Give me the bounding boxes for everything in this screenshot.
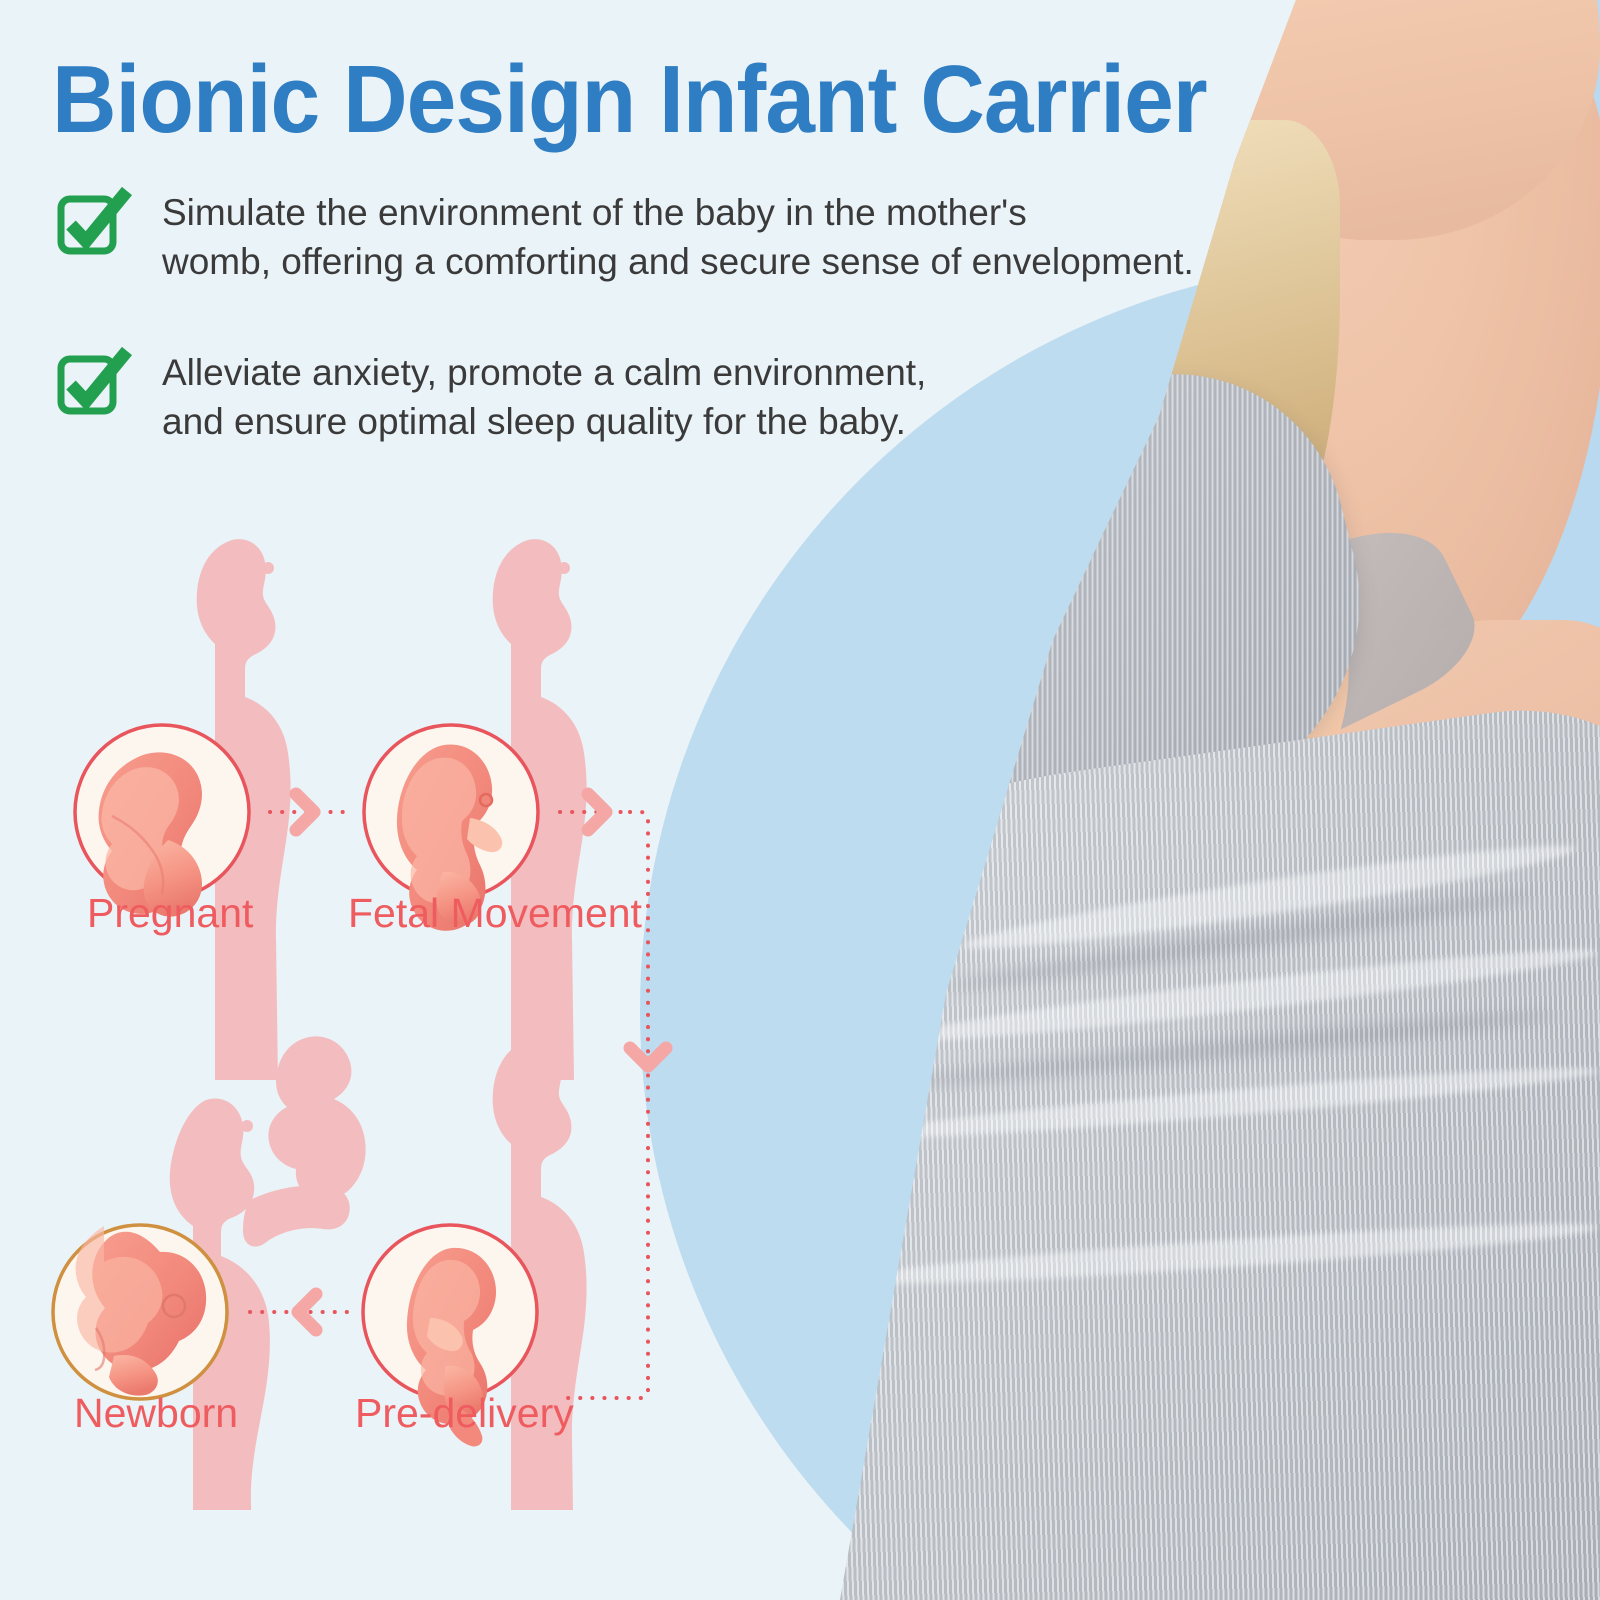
stage-label-pre-delivery: Pre-delivery xyxy=(355,1390,574,1437)
feature-bullet-1-text: Simulate the environment of the baby in … xyxy=(162,185,1194,287)
stage-label-fetal-movement: Fetal Movement xyxy=(348,890,642,937)
checkbox-checked-icon xyxy=(56,185,132,259)
feature-bullet-2-text: Alleviate anxiety, promote a calm enviro… xyxy=(162,345,926,447)
stage-label-pregnant: Pregnant xyxy=(87,890,253,937)
diagram-artwork xyxy=(0,500,700,1510)
feature-bullet-1: Simulate the environment of the baby in … xyxy=(56,185,1194,287)
stage-circle-newborn xyxy=(53,1225,227,1399)
feature-bullet-2: Alleviate anxiety, promote a calm enviro… xyxy=(56,345,926,447)
pregnancy-stages-cycle: Pregnant Fetal Movement Newborn Pre-deli… xyxy=(0,500,700,1510)
stage-label-newborn: Newborn xyxy=(74,1390,238,1437)
checkbox-checked-icon xyxy=(56,345,132,419)
carrier-grey-wrap xyxy=(840,688,1600,1600)
page-title: Bionic Design Infant Carrier xyxy=(52,52,1207,148)
